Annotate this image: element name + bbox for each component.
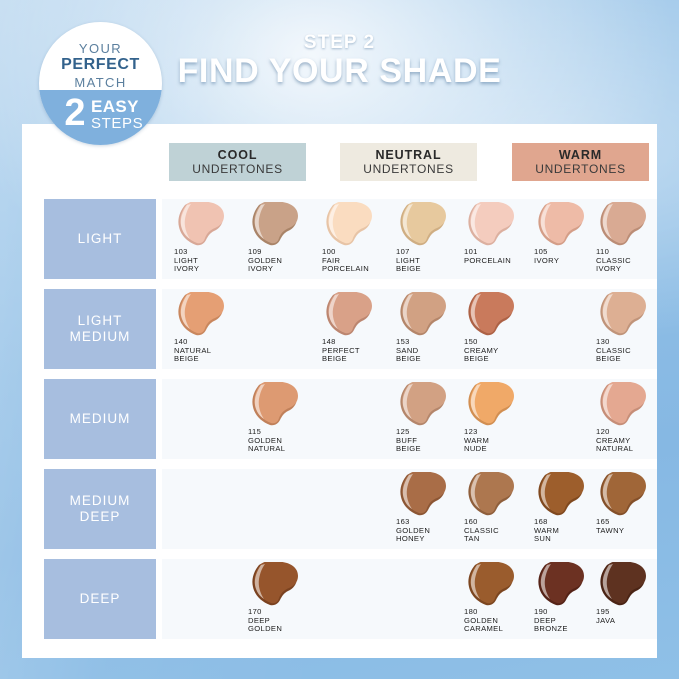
badge-line-easy: EASY [91,97,139,117]
shade-name-line2: GOLDEN [248,625,320,634]
shade-name-line2: PORCELAIN [322,265,394,274]
foundation-smear-icon [248,562,300,608]
shade-swatch-195[interactable]: 195JAVA [592,559,663,639]
shade-swatch-140[interactable]: 140NATURALBEIGE [170,289,241,369]
shade-name-line2: BEIGE [174,355,246,364]
shade-caption: 130CLASSICBEIGE [596,338,668,364]
row-label-text: LIGHTMEDIUM [70,313,131,345]
shade-name-line2: BEIGE [322,355,394,364]
shade-name-line2: HONEY [396,535,468,544]
shade-name-line2: BEIGE [396,445,468,454]
shade-row: LIGHTMEDIUM140NATURALBEIGE148PERFECTBEIG… [22,289,657,369]
shade-name-line2: BEIGE [464,355,536,364]
shade-name-line2: CARAMEL [464,625,536,634]
shade-caption: 140NATURALBEIGE [174,338,246,364]
shade-row: DEEP170DEEPGOLDEN180GOLDENCARAMEL190DEEP… [22,559,657,639]
row-label-text: LIGHT [78,231,123,247]
shade-caption: 195JAVA [596,608,668,625]
badge-line-perfect: PERFECT [39,56,162,74]
badge-line-your: YOUR [39,41,162,56]
shade-swatch-165[interactable]: 165TAWNY [592,469,663,549]
foundation-smear-icon [464,292,516,338]
shade-swatch-100[interactable]: 100FAIRPORCELAIN [318,199,389,279]
foundation-smear-icon [464,202,516,248]
row-label-light-medium[interactable]: LIGHTMEDIUM [44,289,156,369]
badge-line-steps: STEPS [91,115,143,132]
undertone-neutral-sub: UNDERTONES [363,162,454,176]
shade-swatch-105[interactable]: 105IVORY [530,199,601,279]
shade-name-line2: NATURAL [596,445,668,454]
perfect-match-badge: YOUR PERFECT MATCH 2 EASY STEPS [39,22,162,145]
foundation-smear-icon [396,202,448,248]
shade-swatch-150[interactable]: 150CREAMYBEIGE [460,289,531,369]
shade-swatch-125[interactable]: 125BUFFBEIGE [392,379,463,459]
shade-name-line2: IVORY [596,265,668,274]
shade-swatch-180[interactable]: 180GOLDENCARAMEL [460,559,531,639]
shade-name-line2: BEIGE [396,355,468,364]
foundation-smear-icon [396,292,448,338]
shade-caption: 115GOLDENNATURAL [248,428,320,454]
undertone-header-cool: COOL UNDERTONES [169,143,306,181]
shade-caption: 125BUFFBEIGE [396,428,468,454]
foundation-smear-icon [596,202,648,248]
foundation-smear-icon [322,292,374,338]
foundation-smear-icon [396,472,448,518]
shade-row: MEDIUMDEEP163GOLDENHONEY160CLASSICTAN168… [22,469,657,549]
shade-caption: 150CREAMYBEIGE [464,338,536,364]
shade-name-line1: JAVA [596,617,668,626]
foundation-smear-icon [534,202,586,248]
foundation-smear-icon [464,562,516,608]
shade-name-line2: IVORY [248,265,320,274]
foundation-smear-icon [248,202,300,248]
shade-swatch-160[interactable]: 160CLASSICTAN [460,469,531,549]
foundation-smear-icon [596,382,648,428]
shade-name-line2: IVORY [174,265,246,274]
foundation-smear-icon [464,472,516,518]
row-label-deep[interactable]: DEEP [44,559,156,639]
shade-caption: 120CREAMYNATURAL [596,428,668,454]
foundation-smear-icon [174,202,226,248]
shade-swatch-110[interactable]: 110CLASSICIVORY [592,199,663,279]
shade-name-line2: TAN [464,535,536,544]
shade-name-line1: PORCELAIN [464,257,536,266]
row-label-light[interactable]: LIGHT [44,199,156,279]
shade-swatch-153[interactable]: 153SANDBEIGE [392,289,463,369]
foundation-smear-icon [396,382,448,428]
shade-swatch-120[interactable]: 120CREAMYNATURAL [592,379,663,459]
shade-swatch-130[interactable]: 130CLASSICBEIGE [592,289,663,369]
shade-swatch-107[interactable]: 107LIGHTBEIGE [392,199,463,279]
foundation-smear-icon [596,562,648,608]
shade-row: LIGHT103LIGHTIVORY109GOLDENIVORY100FAIRP… [22,199,657,279]
shade-caption: 163GOLDENHONEY [396,518,468,544]
foundation-smear-icon [596,472,648,518]
shade-swatch-190[interactable]: 190DEEPBRONZE [530,559,601,639]
shade-swatch-168[interactable]: 168WARMSUN [530,469,601,549]
badge-step-number: 2 [58,94,92,132]
shade-swatch-103[interactable]: 103LIGHTIVORY [170,199,241,279]
undertone-header-warm: WARM UNDERTONES [512,143,649,181]
shade-swatch-109[interactable]: 109GOLDENIVORY [244,199,315,279]
undertone-warm-label: WARM [559,148,602,162]
row-label-text: MEDIUM [70,411,131,427]
foundation-smear-icon [596,292,648,338]
foundation-smear-icon [174,292,226,338]
undertone-cool-label: COOL [218,148,258,162]
shade-name-line2: NUDE [464,445,536,454]
foundation-smear-icon [534,472,586,518]
shade-chart-card: COOL UNDERTONES NEUTRAL UNDERTONES WARM … [22,124,657,658]
shade-caption: 170DEEPGOLDEN [248,608,320,634]
row-label-text: DEEP [80,591,121,607]
shade-caption: 110CLASSICIVORY [596,248,668,274]
shade-name-line2: BEIGE [596,355,668,364]
shade-row: MEDIUM115GOLDENNATURAL125BUFFBEIGE123WAR… [22,379,657,459]
shade-caption: 101PORCELAIN [464,248,536,265]
undertone-cool-sub: UNDERTONES [192,162,283,176]
shade-swatch-170[interactable]: 170DEEPGOLDEN [244,559,315,639]
shade-name-line2: NATURAL [248,445,320,454]
badge-line-match: MATCH [39,75,162,90]
shade-caption: 123WARMNUDE [464,428,536,454]
shade-swatch-101[interactable]: 101PORCELAIN [460,199,531,279]
shade-name-line2: BEIGE [396,265,468,274]
shade-swatch-123[interactable]: 123WARMNUDE [460,379,531,459]
foundation-smear-icon [248,382,300,428]
shade-caption: 100FAIRPORCELAIN [322,248,394,274]
row-label-medium-deep[interactable]: MEDIUMDEEP [44,469,156,549]
foundation-smear-icon [464,382,516,428]
undertone-header-neutral: NEUTRAL UNDERTONES [340,143,477,181]
shade-name-line1: TAWNY [596,527,668,536]
shade-caption: 148PERFECTBEIGE [322,338,394,364]
shade-swatch-148[interactable]: 148PERFECTBEIGE [318,289,389,369]
undertone-warm-sub: UNDERTONES [535,162,626,176]
undertone-neutral-label: NEUTRAL [375,148,441,162]
shade-caption: 109GOLDENIVORY [248,248,320,274]
foundation-smear-icon [534,562,586,608]
row-label-medium[interactable]: MEDIUM [44,379,156,459]
shade-swatch-115[interactable]: 115GOLDENNATURAL [244,379,315,459]
shade-caption: 180GOLDENCARAMEL [464,608,536,634]
shade-swatch-163[interactable]: 163GOLDENHONEY [392,469,463,549]
row-label-text: MEDIUMDEEP [70,493,131,525]
shade-caption: 107LIGHTBEIGE [396,248,468,274]
shade-caption: 153SANDBEIGE [396,338,468,364]
shade-caption: 160CLASSICTAN [464,518,536,544]
shade-caption: 165TAWNY [596,518,668,535]
foundation-smear-icon [322,202,374,248]
shade-caption: 103LIGHTIVORY [174,248,246,274]
